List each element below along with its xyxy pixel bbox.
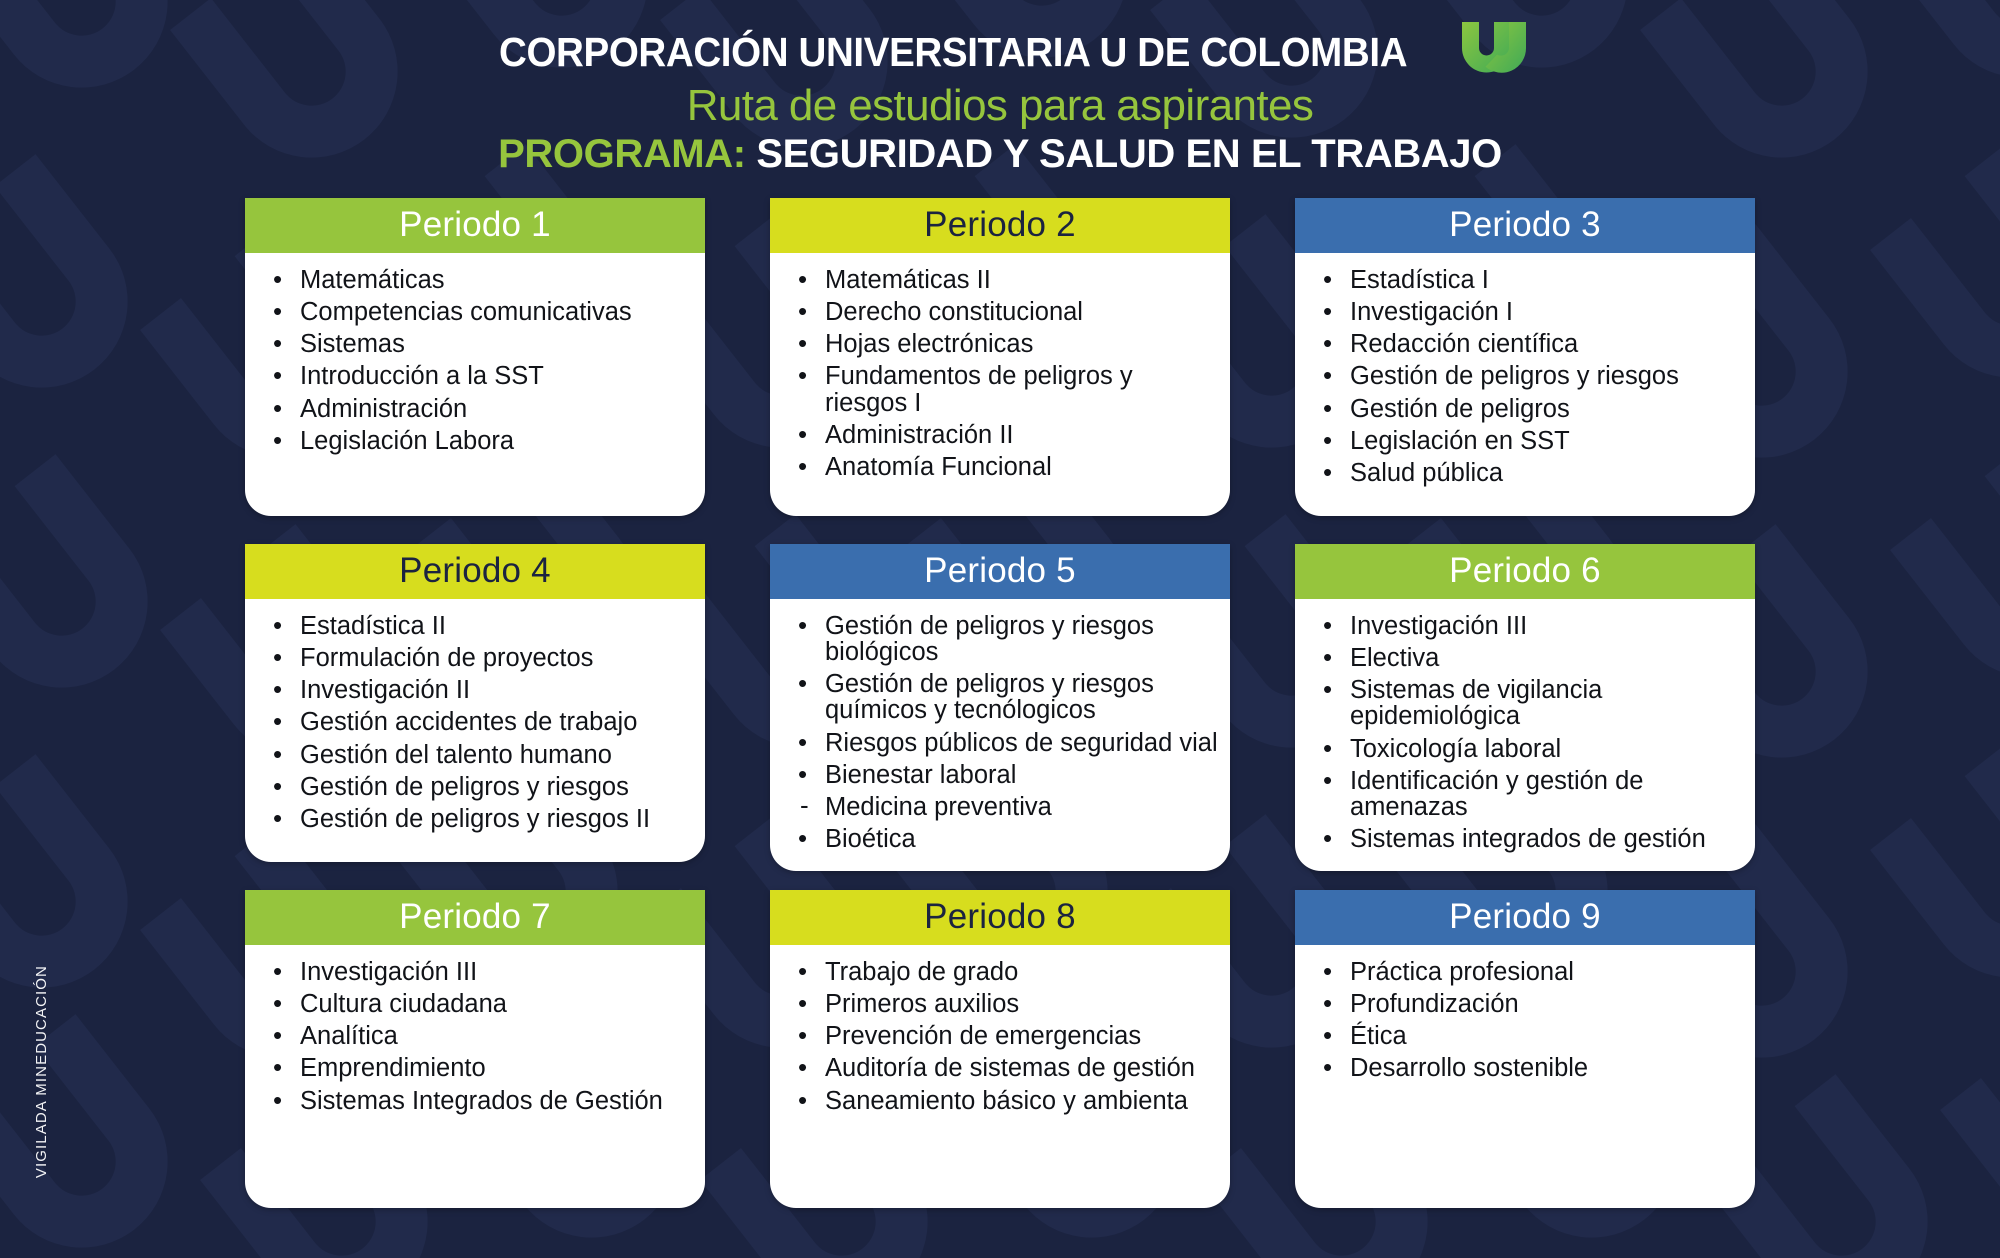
course-item: Sistemas integrados de gestión: [1321, 826, 1745, 858]
course-list: Práctica profesionalProfundizaciónÉticaD…: [1321, 959, 1745, 1088]
institution-line: CORPORACIÓN UNIVERSITARIA U DE COLOMBIA: [0, 18, 2000, 81]
course-item: Bioética: [796, 826, 1220, 858]
period-card-body: Matemáticas IIDerecho constitucionalHoja…: [770, 253, 1230, 516]
period-card-header: Periodo 9: [1295, 890, 1755, 945]
course-item: Investigación II: [271, 677, 695, 709]
course-list: Gestión de peligros y riesgos biológicos…: [796, 613, 1220, 859]
course-item: Sistemas de vigilancia epidemiológica: [1321, 677, 1745, 736]
program-line: PROGRAMA: SEGURIDAD Y SALUD EN EL TRABAJ…: [0, 132, 2000, 176]
course-item: Investigación I: [1321, 299, 1745, 331]
period-card: Periodo 5Gestión de peligros y riesgos b…: [770, 544, 1230, 862]
course-item: Saneamiento básico y ambienta: [796, 1088, 1220, 1120]
course-list: Investigación IIICultura ciudadanaAnalít…: [271, 959, 695, 1120]
period-card-body: Trabajo de gradoPrimeros auxiliosPrevenc…: [770, 945, 1230, 1208]
course-item: Competencias comunicativas: [271, 299, 695, 331]
course-list: Investigación IIIElectivaSistemas de vig…: [1321, 613, 1745, 859]
course-item: Gestión de peligros y riesgos biológicos: [796, 613, 1220, 672]
course-item: Primeros auxilios: [796, 991, 1220, 1023]
course-item: Fundamentos de peligros y riesgos I: [796, 363, 1220, 422]
course-item: Trabajo de grado: [796, 959, 1220, 991]
course-item: Hojas electrónicas: [796, 331, 1220, 363]
course-list: Trabajo de gradoPrimeros auxiliosPrevenc…: [796, 959, 1220, 1120]
course-item: Matemáticas: [271, 267, 695, 299]
course-item: Estadística I: [1321, 267, 1745, 299]
period-card-body: Investigación IIICultura ciudadanaAnalít…: [245, 945, 705, 1208]
course-item: Emprendimiento: [271, 1055, 695, 1087]
course-item: Ética: [1321, 1023, 1745, 1055]
course-item: Investigación III: [271, 959, 695, 991]
course-item: Gestión del talento humano: [271, 742, 695, 774]
period-card-body: Investigación IIIElectivaSistemas de vig…: [1295, 599, 1755, 871]
course-item: Gestión de peligros y riesgos químicos y…: [796, 671, 1220, 730]
course-item: Sistemas: [271, 331, 695, 363]
institution-title: CORPORACIÓN UNIVERSITARIA U DE COLOMBIA: [499, 30, 1407, 74]
period-card: Periodo 9Práctica profesionalProfundizac…: [1295, 890, 1755, 1208]
course-item: Medicina preventiva: [796, 794, 1220, 826]
course-item: Auditoría de sistemas de gestión: [796, 1055, 1220, 1087]
period-card-header: Periodo 2: [770, 198, 1230, 253]
course-list: Matemáticas IIDerecho constitucionalHoja…: [796, 267, 1220, 487]
course-item: Anatomía Funcional: [796, 454, 1220, 486]
period-card-body: Estadística IIFormulación de proyectosIn…: [245, 599, 705, 862]
course-item: Toxicología laboral: [1321, 736, 1745, 768]
period-card: Periodo 2Matemáticas IIDerecho constituc…: [770, 198, 1230, 516]
course-item: Redacción científica: [1321, 331, 1745, 363]
period-card: Periodo 6Investigación IIIElectivaSistem…: [1295, 544, 1755, 862]
period-card: Periodo 3Estadística IInvestigación IRed…: [1295, 198, 1755, 516]
period-card-body: Gestión de peligros y riesgos biológicos…: [770, 599, 1230, 871]
course-item: Salud pública: [1321, 460, 1745, 492]
period-card-header: Periodo 5: [770, 544, 1230, 599]
course-item: Práctica profesional: [1321, 959, 1745, 991]
page-subtitle: Ruta de estudios para aspirantes: [0, 83, 2000, 130]
course-list: MatemáticasCompetencias comunicativasSis…: [271, 267, 695, 461]
period-card: Periodo 1MatemáticasCompetencias comunic…: [245, 198, 705, 516]
course-item: Matemáticas II: [796, 267, 1220, 299]
period-card-header: Periodo 7: [245, 890, 705, 945]
period-card-header: Periodo 1: [245, 198, 705, 253]
course-list: Estadística IIFormulación de proyectosIn…: [271, 613, 695, 839]
course-item: Gestión de peligros: [1321, 396, 1745, 428]
course-item: Riesgos públicos de seguridad vial: [796, 730, 1220, 762]
period-card: Periodo 8Trabajo de gradoPrimeros auxili…: [770, 890, 1230, 1208]
u-de-colombia-logo: [1458, 18, 1530, 81]
course-list: Estadística IInvestigación IRedacción ci…: [1321, 267, 1745, 493]
course-item: Profundización: [1321, 991, 1745, 1023]
course-item: Introducción a la SST: [271, 363, 695, 395]
course-item: Administración II: [796, 422, 1220, 454]
course-item: Sistemas Integrados de Gestión: [271, 1088, 695, 1120]
course-item: Derecho constitucional: [796, 299, 1220, 331]
period-card-header: Periodo 8: [770, 890, 1230, 945]
course-item: Legislación en SST: [1321, 428, 1745, 460]
period-card-body: Estadística IInvestigación IRedacción ci…: [1295, 253, 1755, 516]
course-item: Administración: [271, 396, 695, 428]
course-item: Bienestar laboral: [796, 762, 1220, 794]
periods-grid: Periodo 1MatemáticasCompetencias comunic…: [245, 198, 1755, 1208]
period-card-header: Periodo 4: [245, 544, 705, 599]
course-item: Legislación Labora: [271, 428, 695, 460]
page-header: CORPORACIÓN UNIVERSITARIA U DE COLOMBIA …: [0, 0, 2000, 176]
course-item: Investigación III: [1321, 613, 1745, 645]
course-item: Formulación de proyectos: [271, 645, 695, 677]
course-item: Prevención de emergencias: [796, 1023, 1220, 1055]
program-label: PROGRAMA:: [498, 132, 746, 176]
period-card: Periodo 4Estadística IIFormulación de pr…: [245, 544, 705, 862]
program-name: SEGURIDAD Y SALUD EN EL TRABAJO: [756, 132, 1502, 176]
vigilada-mineducacion-strip: VIGILADA MINEDUCACIÓN: [18, 0, 64, 1258]
course-item: Electiva: [1321, 645, 1745, 677]
course-item: Analítica: [271, 1023, 695, 1055]
period-card-body: Práctica profesionalProfundizaciónÉticaD…: [1295, 945, 1755, 1208]
period-card-body: MatemáticasCompetencias comunicativasSis…: [245, 253, 705, 516]
vigilada-mineducacion-label: VIGILADA MINEDUCACIÓN: [33, 965, 50, 1178]
course-item: Gestión accidentes de trabajo: [271, 709, 695, 741]
course-item: Gestión de peligros y riesgos: [271, 774, 695, 806]
course-item: Identificación y gestión de amenazas: [1321, 768, 1745, 827]
course-item: Gestión de peligros y riesgos: [1321, 363, 1745, 395]
course-item: Estadística II: [271, 613, 695, 645]
period-card-header: Periodo 6: [1295, 544, 1755, 599]
course-item: Desarrollo sostenible: [1321, 1055, 1745, 1087]
period-card: Periodo 7Investigación IIICultura ciudad…: [245, 890, 705, 1208]
course-item: Cultura ciudadana: [271, 991, 695, 1023]
period-card-header: Periodo 3: [1295, 198, 1755, 253]
course-item: Gestión de peligros y riesgos II: [271, 806, 695, 838]
